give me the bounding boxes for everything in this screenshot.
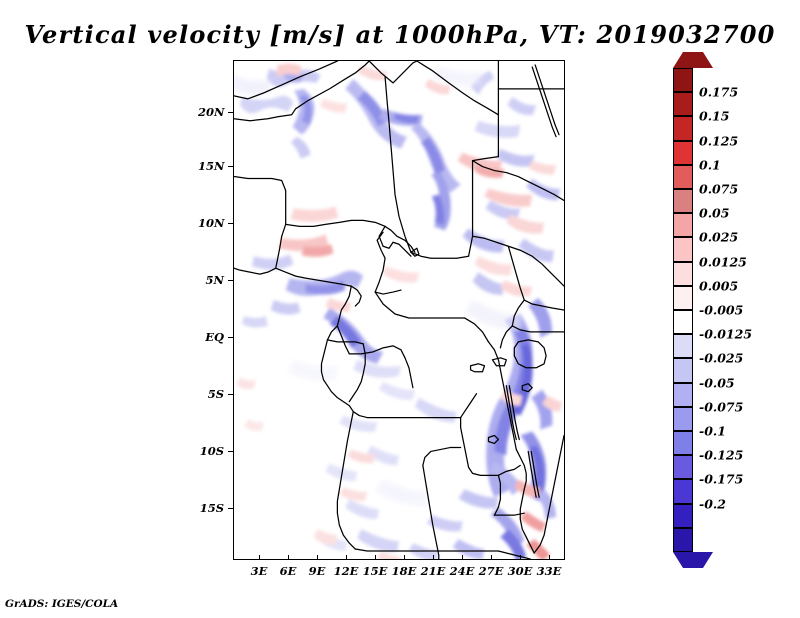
y-axis-label-7: 15S: [198, 501, 224, 515]
colorbar-label: -0.025: [699, 351, 743, 366]
colorbar-label: 0.025: [699, 230, 738, 245]
y-axis-label-6: 10S: [198, 444, 224, 458]
colorbar-swatch: [673, 262, 693, 286]
colorbar-label: -0.175: [699, 472, 743, 487]
colorbar-swatch: [673, 528, 693, 552]
y-tick: [228, 223, 233, 224]
colorbar-label: 0.175: [699, 85, 738, 100]
x-tick: [404, 555, 405, 560]
colorbar-swatch: [673, 237, 693, 261]
y-tick: [228, 337, 233, 338]
colorbar-label: -0.005: [699, 303, 743, 318]
colorbar-swatch: [673, 358, 693, 382]
grads-attribution: GrADS: IGES/COLA: [5, 598, 118, 610]
colorbar-label: 0.075: [699, 182, 738, 197]
x-axis-label-2: 9E: [309, 564, 326, 578]
x-axis-label-10: 33E: [537, 564, 562, 578]
colorbar-label: 0.15: [699, 109, 729, 124]
x-tick: [346, 555, 347, 560]
colorbar: [673, 68, 693, 552]
colorbar-label: -0.1: [699, 424, 726, 439]
colorbar-swatch: [673, 431, 693, 455]
x-axis-label-5: 18E: [392, 564, 417, 578]
x-tick: [549, 555, 550, 560]
colorbar-label: -0.075: [699, 399, 743, 414]
colorbar-swatch: [673, 383, 693, 407]
x-tick: [375, 555, 376, 560]
y-axis-label-1: 15N: [198, 159, 224, 173]
x-axis-label-3: 12E: [334, 564, 359, 578]
colorbar-swatch: [673, 407, 693, 431]
x-tick: [462, 555, 463, 560]
x-axis-label-7: 24E: [450, 564, 475, 578]
colorbar-label: -0.2: [699, 496, 726, 511]
x-tick: [288, 555, 289, 560]
x-tick: [491, 555, 492, 560]
colorbar-swatch: [673, 116, 693, 140]
colorbar-label: 0.1: [699, 157, 721, 172]
y-axis-label-2: 10N: [198, 216, 224, 230]
colorbar-swatch: [673, 310, 693, 334]
colorbar-swatch: [673, 479, 693, 503]
y-tick: [228, 508, 233, 509]
x-axis-label-8: 27E: [479, 564, 504, 578]
x-tick: [433, 555, 434, 560]
colorbar-cap-top: [673, 52, 713, 68]
y-axis-label-5: 5S: [198, 387, 224, 401]
country-borders-overlay: [234, 61, 564, 559]
x-axis-label-4: 15E: [363, 564, 388, 578]
colorbar-label: -0.05: [699, 375, 735, 390]
colorbar-swatch: [673, 165, 693, 189]
colorbar-swatch: [673, 455, 693, 479]
colorbar-label: 0.125: [699, 133, 738, 148]
colorbar-swatch: [673, 92, 693, 116]
y-axis-label-4: EQ: [198, 330, 224, 344]
colorbar-label: 0.05: [699, 206, 729, 221]
x-axis-label-1: 6E: [280, 564, 297, 578]
y-tick: [228, 112, 233, 113]
colorbar-cap-bottom: [673, 552, 713, 568]
y-tick: [228, 166, 233, 167]
colorbar-swatch: [673, 189, 693, 213]
colorbar-swatch: [673, 334, 693, 358]
x-tick: [317, 555, 318, 560]
y-axis-label-3: 5N: [198, 273, 224, 287]
x-tick: [520, 555, 521, 560]
colorbar-swatch: [673, 504, 693, 528]
colorbar-label: 0.0125: [699, 254, 747, 269]
page-title: Vertical velocity [m/s] at 1000hPa, VT: …: [0, 20, 800, 49]
y-tick: [228, 451, 233, 452]
colorbar-label: -0.125: [699, 448, 743, 463]
colorbar-swatch: [673, 141, 693, 165]
y-tick: [228, 280, 233, 281]
colorbar-swatch: [673, 286, 693, 310]
y-axis-label-0: 20N: [198, 105, 224, 119]
colorbar-swatch: [673, 213, 693, 237]
colorbar-label: -0.0125: [699, 327, 752, 342]
x-tick: [259, 555, 260, 560]
x-axis-label-9: 30E: [508, 564, 533, 578]
map-plot-area: [233, 60, 565, 560]
x-axis-label-6: 21E: [421, 564, 446, 578]
colorbar-label: 0.005: [699, 278, 738, 293]
x-axis-label-0: 3E: [251, 564, 268, 578]
y-tick: [228, 394, 233, 395]
colorbar-swatch: [673, 68, 693, 92]
